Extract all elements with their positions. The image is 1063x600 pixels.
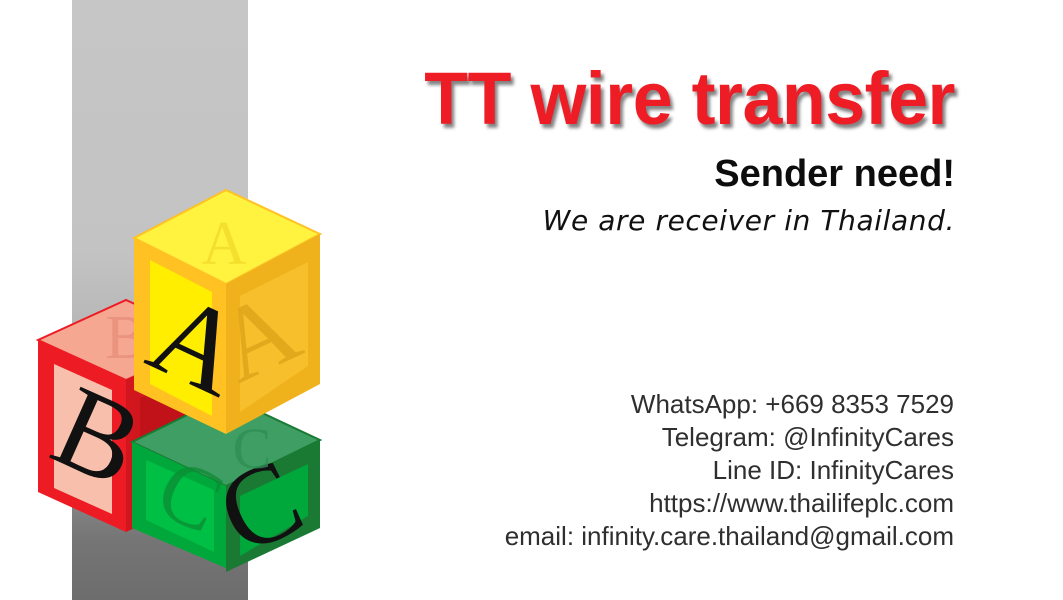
contact-line-lineid: Line ID: InfinityCares (430, 454, 954, 487)
block-a-yellow: A A A (131, 190, 320, 434)
page-title: TT wire transfer (300, 62, 955, 136)
tagline: We are receiver in Thailand. (420, 203, 955, 239)
flyer-canvas: B B C C C (0, 0, 1063, 600)
subtitle: Sender need! (420, 152, 955, 196)
abc-alphabet-blocks: B B C C C (14, 172, 434, 572)
contact-line-whatsapp: WhatsApp: +669 8353 7529 (430, 388, 954, 421)
block-a-top-letter: A (202, 210, 247, 278)
contact-line-email: email: infinity.care.thailand@gmail.com (430, 520, 954, 553)
contact-line-website: https://www.thailifeplc.com (430, 487, 954, 520)
contact-details: WhatsApp: +669 8353 7529 Telegram: @Infi… (430, 388, 954, 553)
contact-line-telegram: Telegram: @InfinityCares (430, 421, 954, 454)
